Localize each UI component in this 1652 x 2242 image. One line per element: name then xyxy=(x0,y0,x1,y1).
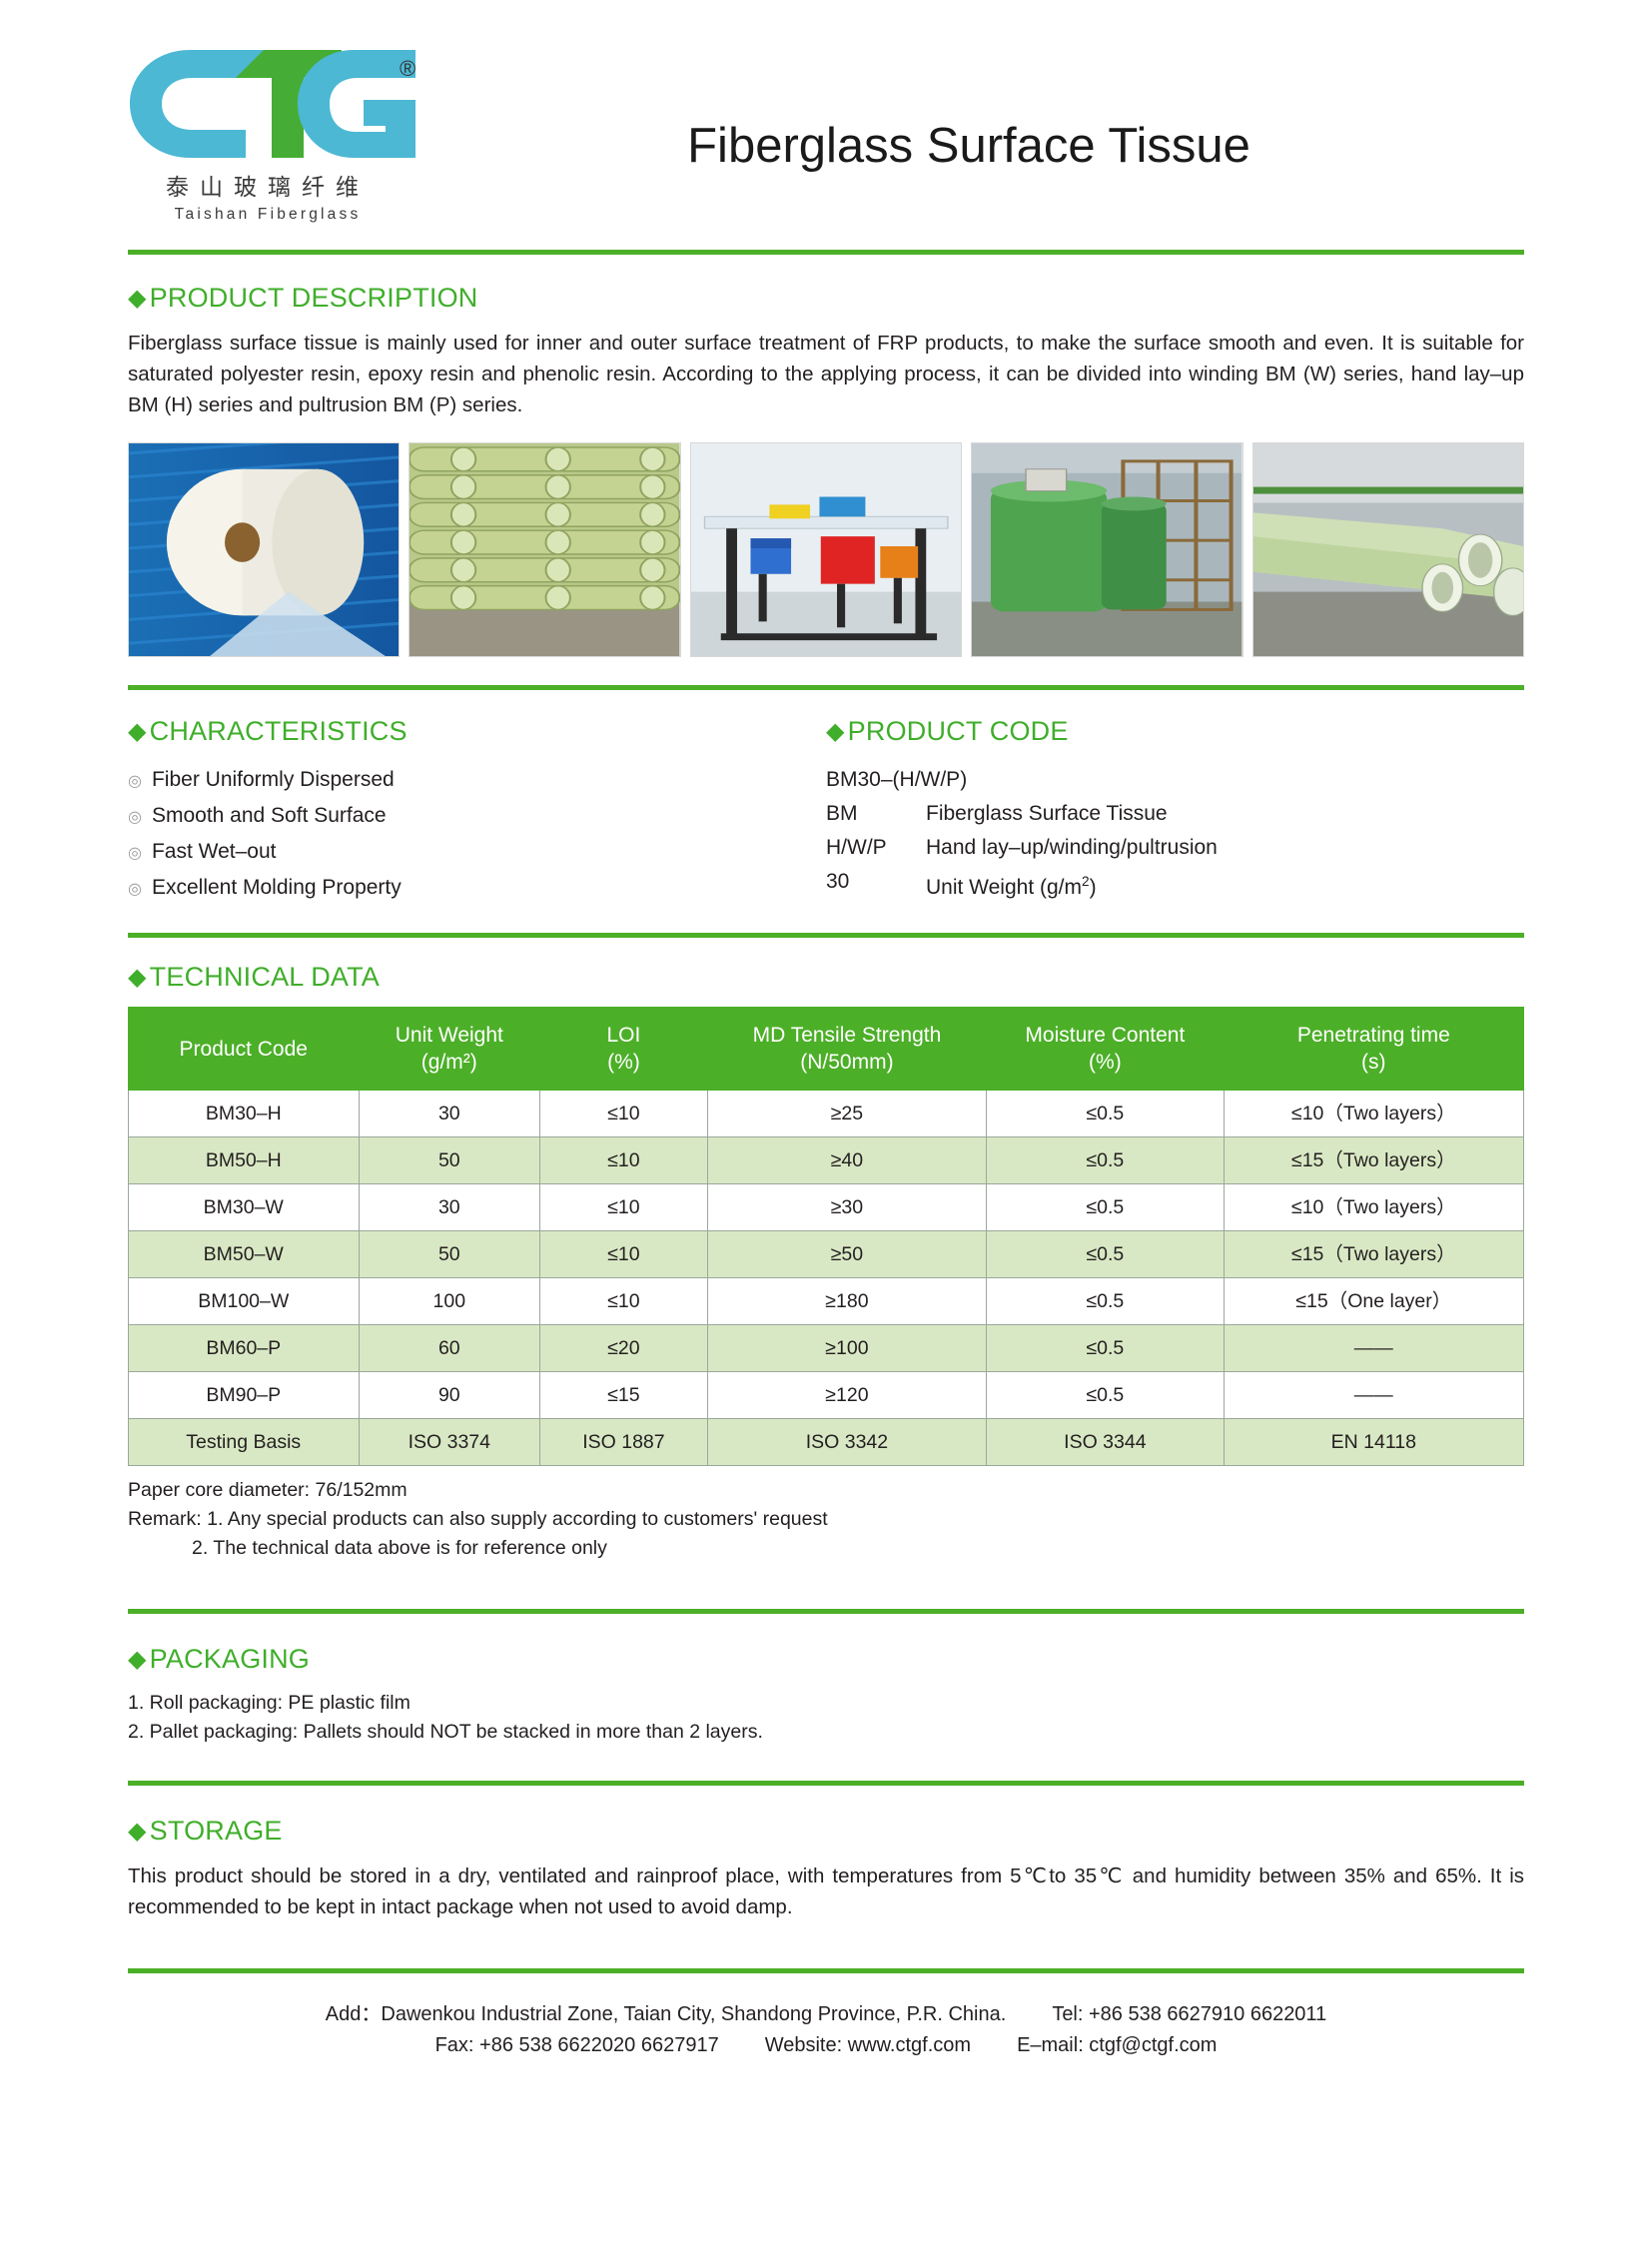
page-footer: Add：Dawenkou Industrial Zone, Taian City… xyxy=(0,1999,1652,2061)
company-logo: ® 泰山玻璃纤维 Taishan Fiberglass xyxy=(128,48,427,224)
cell-md-tensile: ≥180 xyxy=(707,1278,986,1325)
registered-trademark-icon: ® xyxy=(400,58,415,80)
cell-loi: ≤10 xyxy=(540,1091,708,1137)
column-header-unit-weight: Unit Weight (g/m²) xyxy=(359,1008,540,1091)
cell-testing-basis-penetrating: EN 14118 xyxy=(1224,1419,1523,1466)
cell-product-code: BM50–H xyxy=(129,1137,360,1184)
cell-md-tensile: ≥40 xyxy=(707,1137,986,1184)
cell-loi: ≤10 xyxy=(540,1137,708,1184)
cell-testing-basis-moisture: ISO 3344 xyxy=(987,1419,1224,1466)
ctg-logo-mark xyxy=(128,48,417,158)
technical-divider xyxy=(128,1609,1524,1614)
cell-moisture: ≤0.5 xyxy=(987,1325,1224,1372)
table-header-row: Product Code Unit Weight (g/m²) LOI (%) … xyxy=(129,1008,1524,1091)
storage-divider xyxy=(128,1968,1524,1973)
cell-md-tensile: ≥25 xyxy=(707,1091,986,1137)
code-key: H/W/P xyxy=(826,831,926,865)
photo-green-pipes-stack xyxy=(409,442,680,657)
cell-unit-weight: 30 xyxy=(359,1091,540,1137)
photo-tissue-roll xyxy=(128,442,400,657)
column-header-moisture-content: Moisture Content (%) xyxy=(987,1008,1224,1091)
packaging-heading: ◆ PACKAGING xyxy=(128,1644,1524,1675)
cell-md-tensile: ≥30 xyxy=(707,1184,986,1231)
diamond-bullet-icon: ◆ xyxy=(128,1648,147,1672)
table-row: BM100–W 100 ≤10 ≥180 ≤0.5 ≤15（One layer） xyxy=(129,1278,1524,1325)
cell-moisture: ≤0.5 xyxy=(987,1137,1224,1184)
cell-unit-weight: 90 xyxy=(359,1372,540,1419)
storage-text: This product should be stored in a dry, … xyxy=(128,1861,1524,1922)
product-photo-strip xyxy=(128,442,1524,657)
technical-data-heading: ◆ TECHNICAL DATA xyxy=(128,962,1524,993)
list-item: ◎ Fast Wet–out xyxy=(128,835,826,871)
photo-frp-tanks xyxy=(971,442,1242,657)
product-code-heading: ◆ PRODUCT CODE xyxy=(826,716,1524,747)
header-divider xyxy=(128,250,1524,255)
cell-moisture: ≤0.5 xyxy=(987,1231,1224,1278)
table-row: BM30–W 30 ≤10 ≥30 ≤0.5 ≤10（Two layers） xyxy=(129,1184,1524,1231)
diamond-bullet-icon: ◆ xyxy=(128,1820,147,1844)
cell-testing-basis-unit-weight: ISO 3374 xyxy=(359,1419,540,1466)
cell-testing-basis-loi: ISO 1887 xyxy=(540,1419,708,1466)
cell-penetrating-time: ≤15（Two layers） xyxy=(1224,1137,1523,1184)
column-header-md-tensile-strength: MD Tensile Strength (N/50mm) xyxy=(707,1008,986,1091)
table-row: BM50–W 50 ≤10 ≥50 ≤0.5 ≤15（Two layers） xyxy=(129,1231,1524,1278)
cell-penetrating-time: ≤10（Two layers） xyxy=(1224,1184,1523,1231)
cell-penetrating-time: —— xyxy=(1224,1325,1523,1372)
characteristics-column: ◆ CHARACTERISTICS ◎ Fiber Uniformly Disp… xyxy=(128,716,826,907)
diamond-bullet-icon: ◆ xyxy=(128,966,147,990)
note-remark-2: 2. The technical data above is for refer… xyxy=(128,1534,1524,1563)
cell-testing-basis-label: Testing Basis xyxy=(129,1419,360,1466)
note-paper-core: Paper core diameter: 76/152mm xyxy=(128,1476,1524,1505)
section-label: PRODUCT CODE xyxy=(848,716,1069,747)
table-row: BM50–H 50 ≤10 ≥40 ≤0.5 ≤15（Two layers） xyxy=(129,1137,1524,1184)
cell-unit-weight: 50 xyxy=(359,1231,540,1278)
cell-product-code: BM50–W xyxy=(129,1231,360,1278)
double-circle-icon: ◎ xyxy=(128,801,142,835)
double-circle-icon: ◎ xyxy=(128,873,142,907)
characteristics-heading: ◆ CHARACTERISTICS xyxy=(128,716,826,747)
description-divider xyxy=(128,685,1524,690)
code-value: Fiberglass Surface Tissue xyxy=(926,797,1524,831)
technical-data-notes: Paper core diameter: 76/152mm Remark: 1.… xyxy=(128,1476,1524,1563)
product-code-column: ◆ PRODUCT CODE BM30–(H/W/P) BM Fiberglas… xyxy=(826,716,1524,907)
cell-penetrating-time: ≤10（Two layers） xyxy=(1224,1091,1523,1137)
cell-penetrating-time: ≤15（Two layers） xyxy=(1224,1231,1523,1278)
storage-section: ◆ STORAGE This product should be stored … xyxy=(0,1816,1652,1922)
cell-product-code: BM60–P xyxy=(129,1325,360,1372)
list-item: ◎ Fiber Uniformly Dispersed xyxy=(128,763,826,799)
code-value-superscript: 2 xyxy=(1082,874,1090,889)
code-value: Unit Weight (g/m2) xyxy=(926,865,1524,905)
cell-moisture: ≤0.5 xyxy=(987,1184,1224,1231)
cell-product-code: BM90–P xyxy=(129,1372,360,1419)
packaging-divider xyxy=(128,1781,1524,1786)
cell-loi: ≤10 xyxy=(540,1231,708,1278)
cell-loi: ≤10 xyxy=(540,1184,708,1231)
cell-product-code: BM30–W xyxy=(129,1184,360,1231)
cell-testing-basis-md-tensile: ISO 3342 xyxy=(707,1419,986,1466)
double-circle-icon: ◎ xyxy=(128,765,142,799)
cell-md-tensile: ≥120 xyxy=(707,1372,986,1419)
list-item: 2. Pallet packaging: Pallets should NOT … xyxy=(128,1718,1524,1747)
table-row: BM90–P 90 ≤15 ≥120 ≤0.5 —— xyxy=(129,1372,1524,1419)
cell-unit-weight: 50 xyxy=(359,1137,540,1184)
cell-unit-weight: 30 xyxy=(359,1184,540,1231)
list-item: H/W/P Hand lay–up/winding/pultrusion xyxy=(826,831,1524,865)
storage-heading: ◆ STORAGE xyxy=(128,1816,1524,1847)
column-header-product-code: Product Code xyxy=(129,1008,360,1091)
cell-unit-weight: 100 xyxy=(359,1278,540,1325)
cell-moisture: ≤0.5 xyxy=(987,1278,1224,1325)
section-label: STORAGE xyxy=(150,1816,283,1847)
footer-row-2: Fax: +86 538 6622020 6627917 Website: ww… xyxy=(128,2030,1524,2061)
cell-product-code: BM100–W xyxy=(129,1278,360,1325)
technical-data-table: Product Code Unit Weight (g/m²) LOI (%) … xyxy=(128,1007,1524,1466)
diamond-bullet-icon: ◆ xyxy=(826,720,845,744)
column-header-loi: LOI (%) xyxy=(540,1008,708,1091)
cell-md-tensile: ≥50 xyxy=(707,1231,986,1278)
product-code-list: BM30–(H/W/P) BM Fiberglass Surface Tissu… xyxy=(826,763,1524,905)
code-key: BM xyxy=(826,797,926,831)
code-key: 30 xyxy=(826,865,926,905)
double-circle-icon: ◎ xyxy=(128,837,142,871)
characteristics-list: ◎ Fiber Uniformly Dispersed ◎ Smooth and… xyxy=(128,763,826,907)
logo-english-name: Taishan Fiberglass xyxy=(128,206,408,224)
footer-row-1: Add：Dawenkou Industrial Zone, Taian City… xyxy=(128,1999,1524,2030)
section-label: PRODUCT DESCRIPTION xyxy=(150,283,478,314)
code-value: Hand lay–up/winding/pultrusion xyxy=(926,831,1524,865)
logo-chinese-name: 泰山玻璃纤维 xyxy=(128,168,408,202)
footer-tel: Tel: +86 538 6627910 6622011 xyxy=(1052,1999,1326,2030)
note-remark-1: Remark: 1. Any special products can also… xyxy=(128,1505,1524,1534)
characteristics-divider xyxy=(128,933,1524,938)
table-row: BM60–P 60 ≤20 ≥100 ≤0.5 —— xyxy=(129,1325,1524,1372)
cell-penetrating-time: ≤15（One layer） xyxy=(1224,1278,1523,1325)
code-value-suffix: ) xyxy=(1090,876,1097,899)
list-item-label: Fiber Uniformly Dispersed xyxy=(152,763,395,797)
characteristics-productcode-section: ◆ CHARACTERISTICS ◎ Fiber Uniformly Disp… xyxy=(0,716,1652,907)
product-description-heading: ◆ PRODUCT DESCRIPTION xyxy=(128,283,1524,314)
section-label: CHARACTERISTICS xyxy=(150,716,408,747)
product-description-text: Fiberglass surface tissue is mainly used… xyxy=(128,328,1524,420)
product-code-pattern-text: BM30–(H/W/P) xyxy=(826,763,967,797)
footer-fax: Fax: +86 538 6622020 6627917 xyxy=(435,2030,719,2061)
list-item: 1. Roll packaging: PE plastic film xyxy=(128,1689,1524,1718)
table-row: BM30–H 30 ≤10 ≥25 ≤0.5 ≤10（Two layers） xyxy=(129,1091,1524,1137)
code-value-prefix: Unit Weight (g/m xyxy=(926,876,1082,899)
footer-address: Add：Dawenkou Industrial Zone, Taian City… xyxy=(326,1999,1007,2030)
cell-loi: ≤10 xyxy=(540,1278,708,1325)
section-label: PACKAGING xyxy=(150,1644,310,1675)
cell-moisture: ≤0.5 xyxy=(987,1091,1224,1137)
column-header-penetrating-time: Penetrating time (s) xyxy=(1224,1008,1523,1091)
page-header: ® 泰山玻璃纤维 Taishan Fiberglass Fiberglass S… xyxy=(0,0,1652,250)
list-item: ◎ Excellent Molding Property xyxy=(128,871,826,907)
photo-large-pipes xyxy=(1252,442,1524,657)
list-item-label: Smooth and Soft Surface xyxy=(152,799,387,833)
list-item: ◎ Smooth and Soft Surface xyxy=(128,799,826,835)
cell-unit-weight: 60 xyxy=(359,1325,540,1372)
section-label: TECHNICAL DATA xyxy=(150,962,380,993)
list-item: 30 Unit Weight (g/m2) xyxy=(826,865,1524,905)
packaging-section: ◆ PACKAGING 1. Roll packaging: PE plasti… xyxy=(0,1644,1652,1747)
page-title: Fiberglass Surface Tissue xyxy=(469,118,1468,174)
cell-moisture: ≤0.5 xyxy=(987,1372,1224,1419)
packaging-list: 1. Roll packaging: PE plastic film 2. Pa… xyxy=(128,1689,1524,1747)
cell-penetrating-time: —— xyxy=(1224,1372,1523,1419)
list-item-label: Excellent Molding Property xyxy=(152,871,402,905)
cell-md-tensile: ≥100 xyxy=(707,1325,986,1372)
table-row-testing-basis: Testing Basis ISO 3374 ISO 1887 ISO 3342… xyxy=(129,1419,1524,1466)
product-description-section: ◆ PRODUCT DESCRIPTION Fiberglass surface… xyxy=(0,283,1652,657)
cell-product-code: BM30–H xyxy=(129,1091,360,1137)
cell-loi: ≤20 xyxy=(540,1325,708,1372)
list-item: BM Fiberglass Surface Tissue xyxy=(826,797,1524,831)
photo-colored-furniture xyxy=(690,442,962,657)
diamond-bullet-icon: ◆ xyxy=(128,720,147,744)
footer-website[interactable]: Website: www.ctgf.com xyxy=(765,2030,971,2061)
product-code-pattern: BM30–(H/W/P) xyxy=(826,763,1524,797)
technical-data-section: ◆ TECHNICAL DATA Product Code Unit Weigh… xyxy=(0,962,1652,1563)
list-item-label: Fast Wet–out xyxy=(152,835,277,869)
datasheet-page: ® 泰山玻璃纤维 Taishan Fiberglass Fiberglass S… xyxy=(0,0,1652,2242)
ctg-logo-icon xyxy=(128,48,417,160)
footer-email[interactable]: E–mail: ctgf@ctgf.com xyxy=(1017,2030,1217,2061)
cell-loi: ≤15 xyxy=(540,1372,708,1419)
diamond-bullet-icon: ◆ xyxy=(128,287,147,311)
